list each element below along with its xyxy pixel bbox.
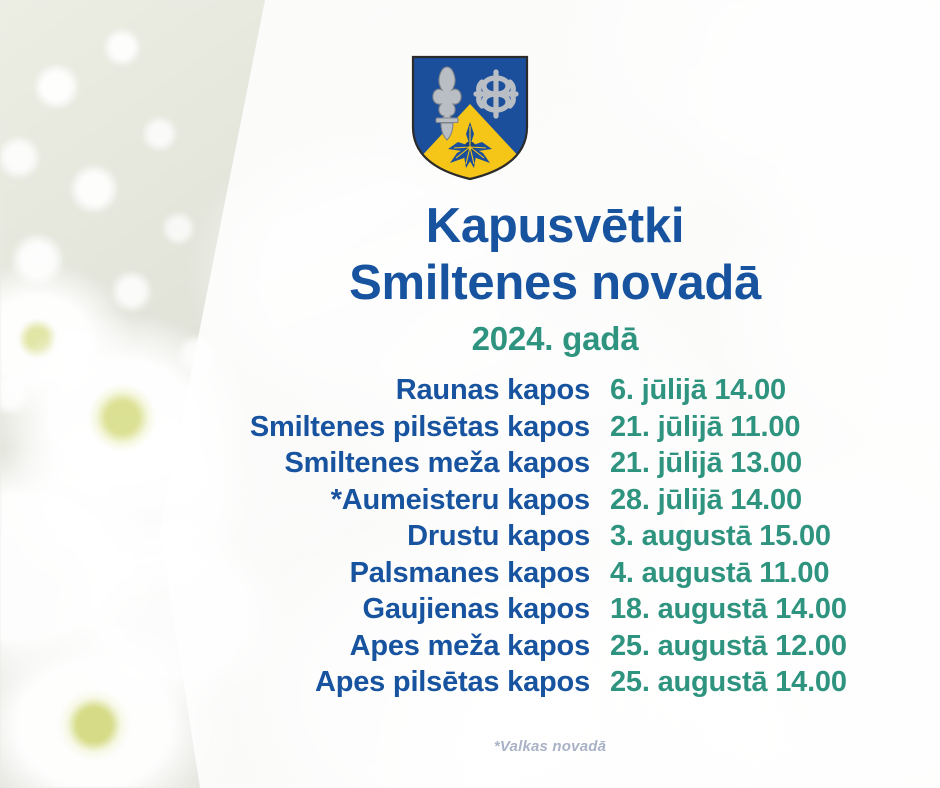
schedule-row: Smiltenes pilsētas kapos 21. jūlijā 11.0… bbox=[180, 411, 920, 448]
schedule-datetime: 25. augustā 14.00 bbox=[610, 666, 920, 699]
schedule-datetime: 25. augustā 12.00 bbox=[610, 630, 920, 663]
schedule-row: Apes meža kapos 25. augustā 12.00 bbox=[180, 630, 920, 667]
schedule-datetime: 3. augustā 15.00 bbox=[610, 520, 920, 553]
schedule-row: Drustu kapos 3. augustā 15.00 bbox=[180, 520, 920, 557]
schedule-datetime: 18. augustā 14.00 bbox=[610, 593, 920, 626]
schedule-place: Palsmanes kapos bbox=[180, 557, 610, 590]
schedule-datetime: 4. augustā 11.00 bbox=[610, 557, 920, 590]
schedule-row: *Aumeisteru kapos 28. jūlijā 14.00 bbox=[180, 484, 920, 521]
schedule-row: Raunas kapos 6. jūlijā 14.00 bbox=[180, 374, 920, 411]
page-subtitle-year: 2024. gadā bbox=[180, 319, 930, 359]
footnote: *Valkas novadā bbox=[180, 738, 920, 755]
schedule-place: Drustu kapos bbox=[180, 520, 610, 553]
schedule-place: Apes pilsētas kapos bbox=[180, 666, 610, 699]
page-title-line-2: Smiltenes novadā bbox=[180, 255, 930, 312]
poster-content: Kapusvētki Smiltenes novadā 2024. gadā R… bbox=[0, 0, 940, 788]
page-title-line-1: Kapusvētki bbox=[180, 198, 930, 255]
schedule-datetime: 28. jūlijā 14.00 bbox=[610, 484, 920, 517]
schedule-place: Gaujienas kapos bbox=[180, 593, 610, 626]
schedule-list: Raunas kapos 6. jūlijā 14.00 Smiltenes p… bbox=[180, 374, 920, 703]
schedule-place: Apes meža kapos bbox=[180, 630, 610, 663]
schedule-row: Palsmanes kapos 4. augustā 11.00 bbox=[180, 557, 920, 594]
coat-of-arms bbox=[0, 52, 940, 182]
schedule-row: Smiltenes meža kapos 21. jūlijā 13.00 bbox=[180, 447, 920, 484]
schedule-row: Gaujienas kapos 18. augustā 14.00 bbox=[180, 593, 920, 630]
schedule-datetime: 6. jūlijā 14.00 bbox=[610, 374, 920, 407]
schedule-place: *Aumeisteru kapos bbox=[180, 484, 610, 517]
schedule-place: Smiltenes pilsētas kapos bbox=[180, 411, 610, 444]
title-block: Kapusvētki Smiltenes novadā 2024. gadā bbox=[180, 198, 930, 358]
schedule-datetime: 21. jūlijā 11.00 bbox=[610, 411, 920, 444]
schedule-place: Raunas kapos bbox=[180, 374, 610, 407]
poster-canvas: Kapusvētki Smiltenes novadā 2024. gadā R… bbox=[0, 0, 940, 788]
schedule-row: Apes pilsētas kapos 25. augustā 14.00 bbox=[180, 666, 920, 703]
schedule-place: Smiltenes meža kapos bbox=[180, 447, 610, 480]
schedule-datetime: 21. jūlijā 13.00 bbox=[610, 447, 920, 480]
coat-of-arms-icon bbox=[408, 52, 532, 182]
